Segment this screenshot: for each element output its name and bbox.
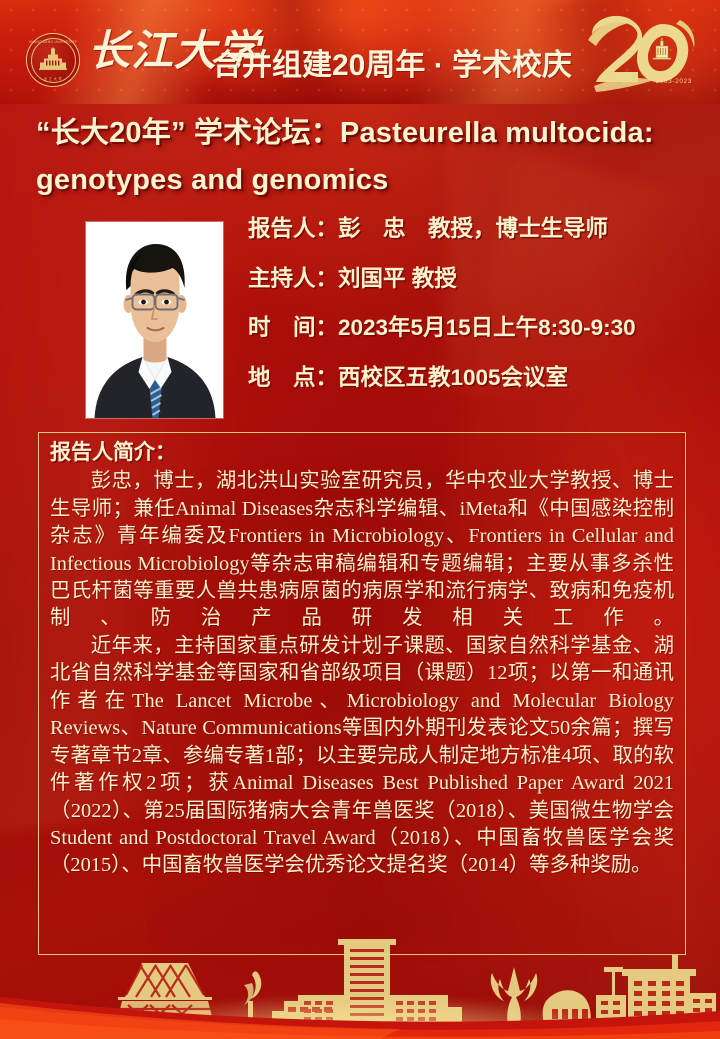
bio-paragraph-1: 彭忠，博士，湖北洪山实验室研究员，华中农业大学教授、博士生导师；兼任Animal… [50,468,674,633]
bio-paragraph-2: 近年来，主持国家重点研发计划子课题、国家自然科学基金、湖北省自然科学基金等国家和… [50,633,674,880]
detail-time: 时 间：2023年5月15日上午8:30-9:30 [248,317,708,340]
seal-ring-text-bottom: 长 江 大 学 [44,76,62,81]
bio-heading: 报告人简介： [50,440,674,466]
header-banner: CHANGJIANG UNIVERSITY 长 江 大 学 [0,0,720,104]
detail-speaker: 报告人：彭 忠 教授，博士生导师 [248,218,708,241]
speaker-portrait: 报告人照片 [86,222,223,418]
poster-root: CHANGJIANG UNIVERSITY 长 江 大 学 [0,0,720,1039]
event-details: 报告人：彭 忠 教授，博士生导师 主持人：刘国平 教授 时 间：2023年5月1… [248,218,708,389]
university-seal-icon: CHANGJIANG UNIVERSITY 长 江 大 学 [26,33,80,87]
detail-location: 地 点：西校区五教1005会议室 [248,367,708,390]
detail-host: 主持人：刘国平 教授 [248,268,708,291]
speaker-bio-box: 报告人简介： 彭忠，博士，湖北洪山实验室研究员，华中农业大学教授、博士生导师；兼… [38,432,686,955]
footer-skyline [0,939,720,1039]
title-line-2: genotypes and genomics [36,157,698,204]
banner-slogan: 合并组建20周年 · 学术校庆 [212,40,572,84]
anniversary-years: 2003-2023 [656,78,693,85]
title-line-1: “长大20年” 学术论坛：Pasteurella multocida: [36,117,654,149]
anniversary-logo: 2003-2023 [584,14,696,94]
seal-ring-text-top: CHANGJIANG UNIVERSITY [29,40,78,44]
seal-building-icon [38,48,68,74]
footer-wave-ribbons [0,977,720,1039]
portrait-figure-icon [86,238,223,418]
poster-title: “长大20年” 学术论坛：Pasteurella multocida: geno… [36,110,698,204]
